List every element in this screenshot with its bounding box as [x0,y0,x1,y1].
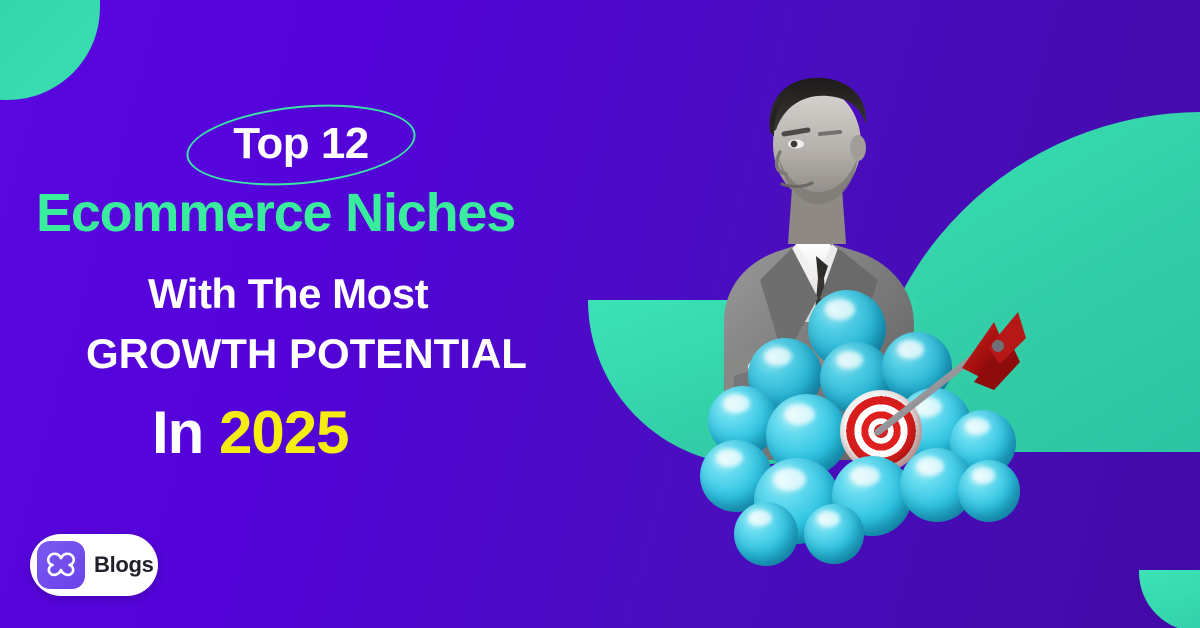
brand-logo-label: Blogs [94,552,154,578]
headline-accent-line: Ecommerce Niches [36,182,515,244]
year-value: 2025 [219,399,348,466]
blog-hero-banner: Top 12 Ecommerce Niches With The Most GR… [0,0,1200,628]
cyan-sphere-pyramid [700,290,1020,555]
year-prefix: In [152,399,219,466]
headline-second-line: With The Most [148,270,428,318]
brand-logo[interactable]: Blogs [30,534,158,596]
headline-third-line: GROWTH POTENTIAL [86,330,527,378]
dart-arrow-icon [870,304,1070,464]
butterfly-icon [37,541,85,589]
headline-year-line: In 2025 [152,398,348,467]
eyebrow-text: Top 12 [186,105,416,183]
bottom-right-teal-half-circle [1139,570,1200,628]
eyebrow-badge: Top 12 [186,106,416,184]
